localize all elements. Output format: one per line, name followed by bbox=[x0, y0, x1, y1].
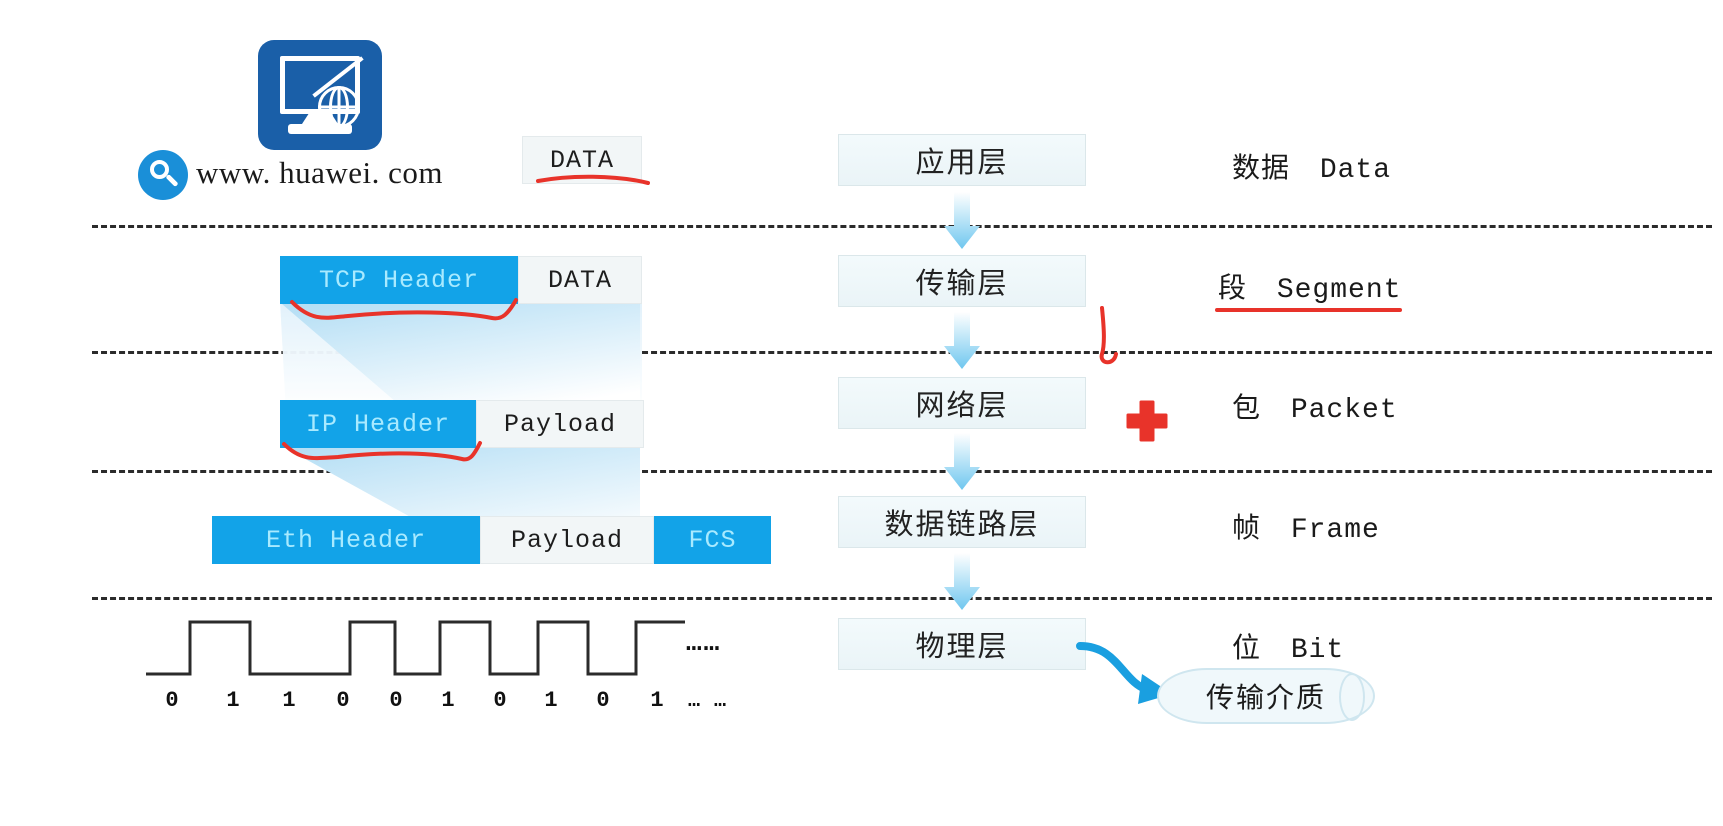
pdu-cell-eth-header: Eth Header bbox=[212, 516, 480, 564]
pdu-row-datalink: Eth Header Payload FCS bbox=[212, 516, 771, 564]
pdu-cell-payload-datalink: Payload bbox=[480, 516, 654, 564]
website-url: www. huawei. com bbox=[196, 155, 443, 191]
red-hook-annotation bbox=[1084, 306, 1134, 372]
layer-box-application[interactable]: 应用层 bbox=[838, 134, 1086, 186]
transmission-medium-box[interactable]: 传输介质 bbox=[1157, 668, 1375, 724]
pdu-label-packet-en: Packet bbox=[1291, 395, 1398, 426]
pdu-cell-ip-header: IP Header bbox=[280, 400, 476, 448]
arrow-transport-to-network bbox=[943, 312, 981, 370]
bit-waveform bbox=[140, 608, 700, 686]
bit-3: 0 bbox=[316, 688, 370, 713]
diagram-canvas: www. huawei. com DAT bbox=[0, 0, 1723, 826]
layer-label-network: 网络层 bbox=[915, 382, 1008, 424]
bit-6: 0 bbox=[474, 688, 526, 713]
search-icon bbox=[138, 150, 188, 200]
transmission-medium-label: 传输介质 bbox=[1206, 676, 1326, 716]
pdu-label-segment-cn: 段 bbox=[1218, 271, 1247, 304]
layer-label-datalink: 数据链路层 bbox=[884, 501, 1039, 543]
pdu-label-bit: 位 Bit bbox=[1232, 626, 1344, 666]
browser-globe-icon bbox=[258, 40, 382, 150]
layer-label-transport: 传输层 bbox=[915, 260, 1008, 302]
waveform-ellipsis: …… bbox=[686, 628, 721, 658]
bit-sequence: 0 1 1 0 0 1 0 1 0 1 bbox=[140, 688, 780, 713]
separator-line-1 bbox=[92, 225, 1712, 228]
pdu-row-network: IP Header Payload bbox=[280, 400, 644, 448]
separator-line-2 bbox=[92, 351, 1712, 354]
bit-sequence-ellipsis: … … bbox=[688, 690, 727, 713]
bit-0: 0 bbox=[140, 688, 204, 713]
bit-7: 1 bbox=[526, 688, 576, 713]
pdu-label-frame-en: Frame bbox=[1291, 515, 1380, 546]
pdu-label-segment-en: Segment bbox=[1277, 275, 1402, 306]
separator-line-4 bbox=[92, 597, 1712, 600]
arrow-application-to-transport bbox=[943, 192, 981, 250]
pdu-label-packet-cn: 包 bbox=[1232, 391, 1261, 424]
layer-box-network[interactable]: 网络层 bbox=[838, 377, 1086, 429]
bit-2: 1 bbox=[262, 688, 316, 713]
pdu-label-data-en: Data bbox=[1320, 155, 1391, 186]
pdu-cell-data: DATA bbox=[522, 136, 642, 184]
bit-9: 1 bbox=[630, 688, 684, 713]
bit-1: 1 bbox=[204, 688, 262, 713]
pdu-label-bit-en: Bit bbox=[1291, 635, 1344, 666]
layer-label-application: 应用层 bbox=[915, 139, 1008, 181]
bit-4: 0 bbox=[370, 688, 422, 713]
pdu-cell-data-transport: DATA bbox=[518, 256, 642, 304]
separator-line-3 bbox=[92, 470, 1712, 473]
pdu-cell-tcp-header: TCP Header bbox=[280, 256, 518, 304]
bit-8: 0 bbox=[576, 688, 630, 713]
red-cross-icon bbox=[1124, 398, 1170, 444]
arrow-network-to-datalink bbox=[943, 433, 981, 491]
pdu-cell-payload-network: Payload bbox=[476, 400, 644, 448]
pdu-label-frame: 帧 Frame bbox=[1232, 506, 1380, 546]
pdu-label-segment: 段 Segment bbox=[1218, 266, 1401, 306]
arrow-datalink-to-physical bbox=[943, 553, 981, 611]
layer-box-physical[interactable]: 物理层 bbox=[838, 618, 1086, 670]
pdu-label-packet: 包 Packet bbox=[1232, 386, 1398, 426]
pdu-cell-fcs: FCS bbox=[654, 516, 771, 564]
layer-box-datalink[interactable]: 数据链路层 bbox=[838, 496, 1086, 548]
bit-5: 1 bbox=[422, 688, 474, 713]
cylinder-cap bbox=[1339, 673, 1365, 721]
layer-label-physical: 物理层 bbox=[915, 623, 1008, 665]
pdu-row-application: DATA bbox=[522, 136, 642, 184]
pdu-row-transport: TCP Header DATA bbox=[280, 256, 642, 304]
layer-box-transport[interactable]: 传输层 bbox=[838, 255, 1086, 307]
pdu-label-bit-cn: 位 bbox=[1232, 631, 1261, 664]
pdu-label-data: 数据 Data bbox=[1232, 146, 1391, 186]
pdu-label-frame-cn: 帧 bbox=[1232, 511, 1261, 544]
pdu-label-data-cn: 数据 bbox=[1232, 151, 1290, 184]
